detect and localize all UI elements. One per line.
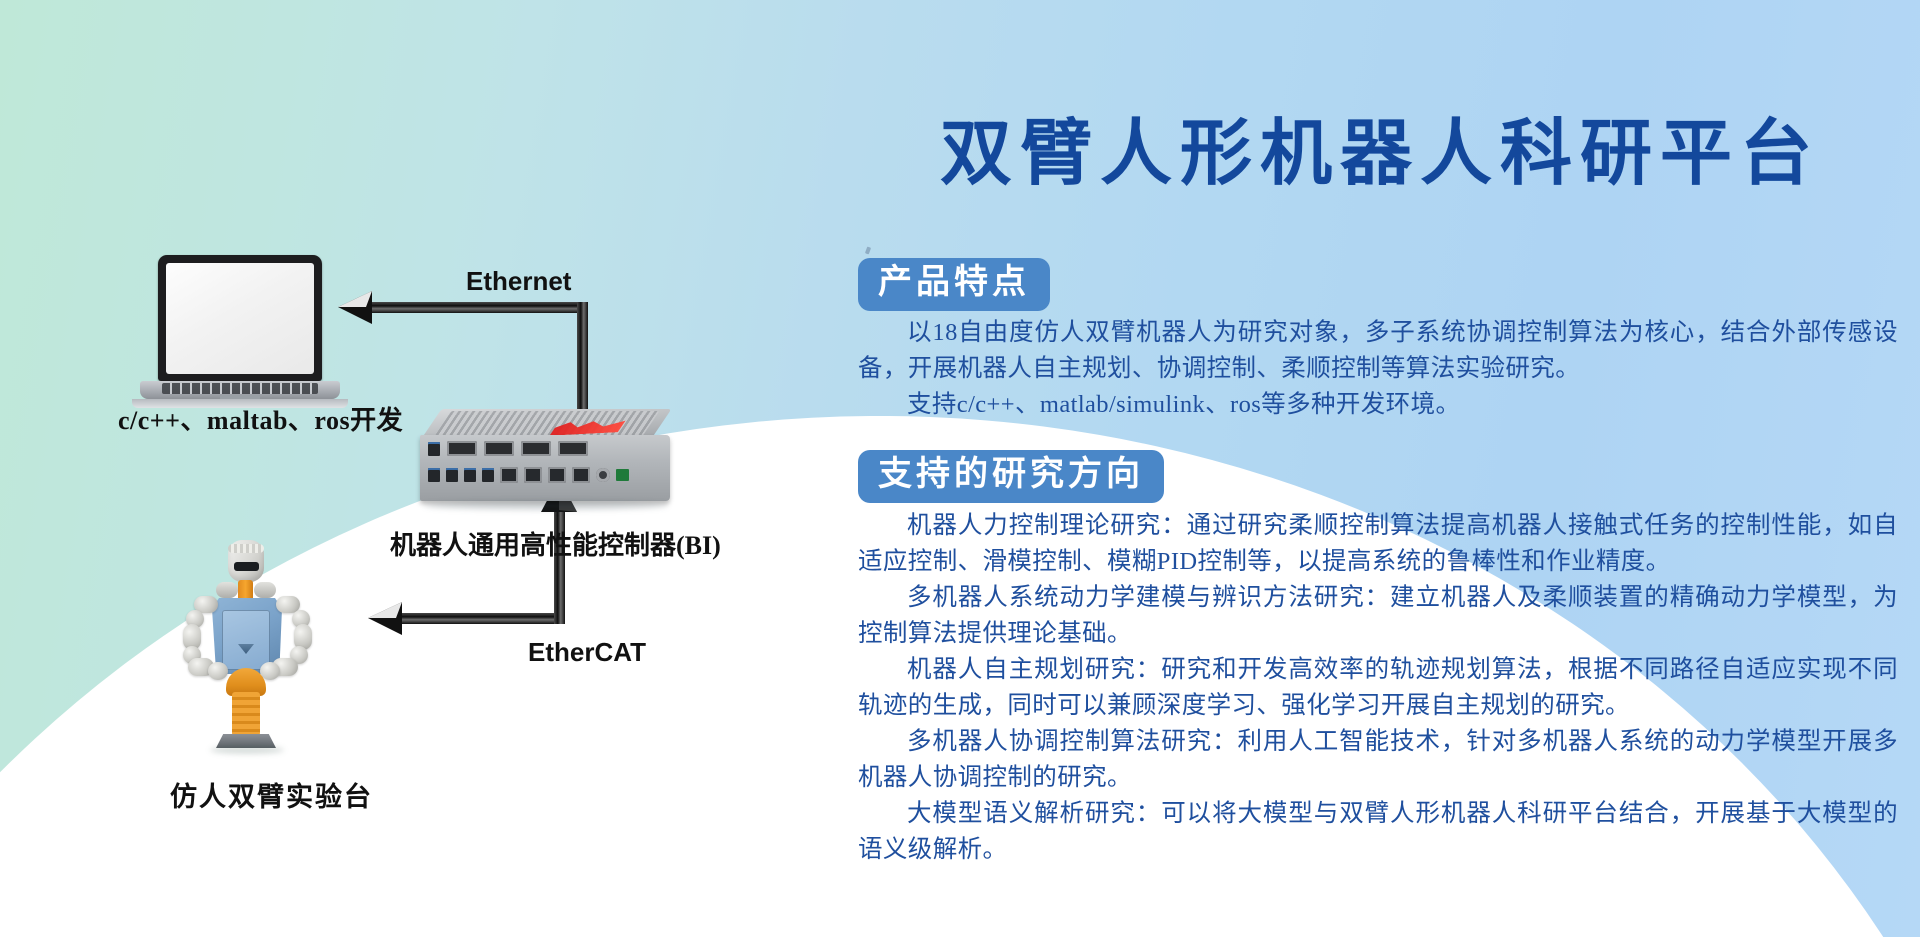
laptop-label: c/c++、maltab、ros开发	[118, 400, 403, 437]
features-section-header: 产品特点	[858, 258, 1050, 311]
db9-serial-port-icon	[558, 441, 588, 456]
rj45-port-icon	[524, 467, 542, 483]
power-connector-icon	[596, 468, 610, 482]
laptop-screen	[166, 263, 314, 374]
page-title: 双臂人形机器人科研平台	[850, 118, 1910, 190]
robot-support-column	[232, 692, 260, 736]
direction-paragraph-1: 机器人力控制理论研究：通过研究柔顺控制算法提高机器人接触式任务的控制性能，如自适…	[858, 508, 1898, 580]
robot-shadow	[210, 746, 284, 754]
laptop-illustration	[140, 255, 340, 415]
usb-port-icon	[446, 468, 458, 482]
robot-left-hand	[208, 662, 228, 680]
controller-label: 机器人通用高性能控制器(BI)	[390, 525, 721, 562]
robot-illustration	[150, 540, 340, 770]
laptop-keyboard	[162, 383, 318, 394]
system-diagram: c/c++、maltab、ros开发	[0, 0, 700, 937]
ethercat-connection-label: EtherCAT	[528, 637, 646, 668]
terminal-block-icon	[616, 469, 629, 481]
robot-visor	[234, 562, 259, 571]
robot-chest-panel	[222, 610, 270, 670]
laptop-lid	[158, 255, 322, 381]
controller-illustration	[420, 415, 670, 515]
usb-port-icon	[464, 468, 476, 482]
features-paragraph-2: 支持c/c++、matlab/simulink、ros等多种开发环境。	[858, 387, 1898, 423]
db9-serial-port-icon	[521, 441, 551, 456]
directions-badge: 支持的研究方向	[858, 450, 1164, 503]
poster-root: c/c++、maltab、ros开发	[0, 0, 1920, 937]
db9-serial-port-icon	[447, 441, 477, 456]
features-paragraph-1: 以18自由度仿人双臂机器人为研究对象，多子系统协调控制算法为核心，结合外部传感设…	[858, 315, 1898, 387]
controller-shadow	[424, 501, 668, 510]
rj45-port-icon	[548, 467, 566, 483]
robot-label: 仿人双臂实验台	[170, 775, 373, 814]
ethernet-connection-label: Ethernet	[466, 266, 571, 297]
usb-port-icon	[428, 442, 440, 456]
decorative-tick	[865, 247, 871, 255]
controller-serial-port-row	[428, 441, 588, 456]
features-badge: 产品特点	[858, 258, 1050, 311]
controller-network-port-row	[428, 467, 629, 483]
directions-section-header: 支持的研究方向	[858, 450, 1164, 503]
direction-paragraph-3: 机器人自主规划研究：研究和开发高效率的轨迹规划算法，根据不同路径自适应实现不同轨…	[858, 652, 1898, 724]
db9-serial-port-icon	[484, 441, 514, 456]
rj45-port-icon	[500, 467, 518, 483]
robot-right-shoulder	[254, 582, 276, 598]
usb-port-icon	[428, 468, 440, 482]
direction-paragraph-2: 多机器人系统动力学建模与辨识方法研究：建立机器人及柔顺装置的精确动力学模型，为控…	[858, 580, 1898, 652]
robot-head-band	[228, 544, 264, 553]
robot-left-shoulder	[216, 582, 238, 598]
direction-paragraph-5: 大模型语义解析研究：可以将大模型与双臂人形机器人科研平台结合，开展基于大模型的语…	[858, 796, 1898, 868]
rj45-port-icon	[572, 467, 590, 483]
content-column: 双臂人形机器人科研平台 产品特点 以18自由度仿人双臂机器人为研究对象，多子系统…	[840, 0, 1920, 937]
direction-paragraph-4: 多机器人协调控制算法研究：利用人工智能技术，针对多机器人系统的动力学模型开展多机…	[858, 724, 1898, 796]
usb-port-icon	[482, 468, 494, 482]
